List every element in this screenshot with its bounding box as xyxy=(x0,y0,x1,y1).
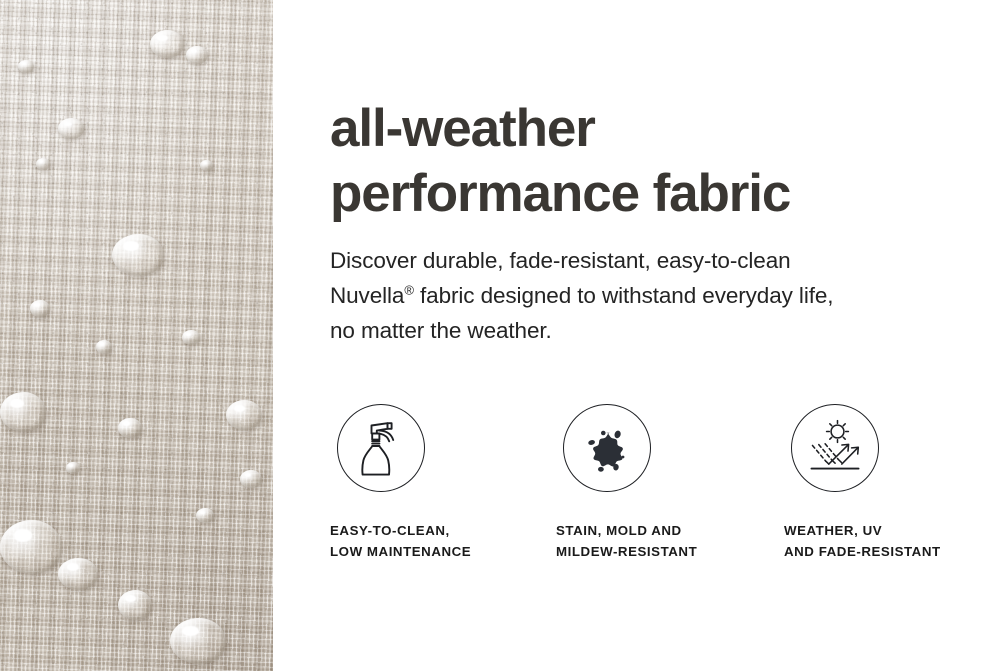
feature-stain-resistant: STAIN, MOLD AND MILDEW-RESISTANT xyxy=(556,404,771,562)
water-droplet xyxy=(118,418,142,438)
water-droplet xyxy=(0,520,62,574)
subcopy-line-3: no matter the weather. xyxy=(330,313,950,348)
headline-line-2: performance fabric xyxy=(330,161,990,226)
water-droplet xyxy=(170,618,226,664)
feature-label-line-1: EASY-TO-CLEAN, xyxy=(330,520,545,541)
feature-label-line-1: STAIN, MOLD AND xyxy=(556,520,771,541)
sun-uv-reflect-icon xyxy=(791,404,879,492)
feature-label: WEATHER, UV AND FADE-RESISTANT xyxy=(784,492,999,562)
water-droplet xyxy=(118,590,152,620)
water-droplet xyxy=(186,46,208,64)
water-droplet xyxy=(58,118,84,139)
water-droplet xyxy=(66,462,80,474)
feature-weather-uv-resistant: WEATHER, UV AND FADE-RESISTANT xyxy=(784,404,999,562)
feature-easy-to-clean: EASY-TO-CLEAN, LOW MAINTENANCE xyxy=(330,404,545,562)
feature-label: STAIN, MOLD AND MILDEW-RESISTANT xyxy=(556,492,771,562)
water-droplet xyxy=(36,158,50,170)
page-title: all-weather performance fabric xyxy=(330,96,990,226)
water-droplet xyxy=(0,392,46,432)
water-droplet xyxy=(150,30,184,58)
feature-label: EASY-TO-CLEAN, LOW MAINTENANCE xyxy=(330,492,545,562)
feature-label-line-1: WEATHER, UV xyxy=(784,520,999,541)
water-droplet xyxy=(58,558,98,590)
spray-bottle-icon xyxy=(337,404,425,492)
feature-label-line-2: MILDEW-RESISTANT xyxy=(556,541,771,562)
water-droplet xyxy=(18,60,34,73)
subcopy: Discover durable, fade-resistant, easy-t… xyxy=(330,243,950,348)
water-droplet xyxy=(240,470,262,488)
all-weather-fabric-banner: all-weather performance fabric Discover … xyxy=(0,0,1005,671)
content-panel: all-weather performance fabric Discover … xyxy=(273,0,1005,671)
water-droplet xyxy=(30,300,50,317)
registered-trademark-icon: ® xyxy=(404,283,414,298)
water-droplet xyxy=(112,234,164,276)
brand-name: Nuvella xyxy=(330,283,404,308)
headline-line-1: all-weather xyxy=(330,96,990,161)
feature-label-line-2: LOW MAINTENANCE xyxy=(330,541,545,562)
water-droplet xyxy=(226,400,262,430)
water-droplet xyxy=(200,160,213,171)
subcopy-line-1: Discover durable, fade-resistant, easy-t… xyxy=(330,243,950,278)
water-droplet xyxy=(96,340,112,354)
water-droplet xyxy=(196,508,214,523)
subcopy-line-2-rest: fabric designed to withstand everyday li… xyxy=(414,283,834,308)
subcopy-line-2: Nuvella® fabric designed to withstand ev… xyxy=(330,278,950,313)
stain-splat-icon xyxy=(563,404,651,492)
feature-label-line-2: AND FADE-RESISTANT xyxy=(784,541,999,562)
feature-list: EASY-TO-CLEAN, LOW MAINTENANCE xyxy=(330,404,1005,564)
fabric-photo xyxy=(0,0,273,671)
water-droplet xyxy=(182,330,200,345)
